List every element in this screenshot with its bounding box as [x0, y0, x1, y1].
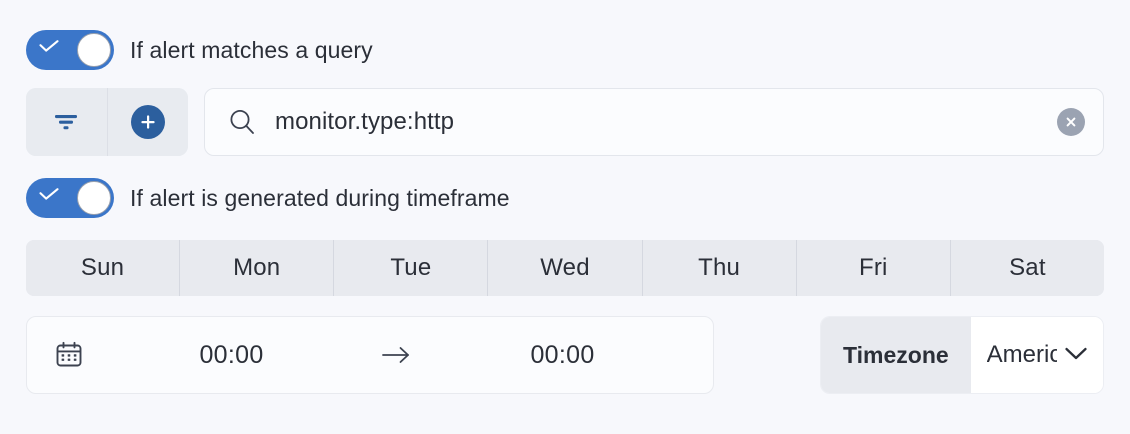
start-time-input[interactable]: 00:00 [111, 341, 352, 370]
filter-icon [53, 113, 79, 131]
calendar-icon [27, 340, 111, 370]
arrow-right-icon [352, 345, 442, 365]
time-range-field[interactable]: 00:00 00:00 [26, 316, 714, 394]
check-icon [39, 40, 59, 52]
query-controls-row: monitor.type:http [26, 70, 1104, 156]
search-icon [227, 107, 257, 137]
check-icon [39, 188, 59, 200]
query-search-field[interactable]: monitor.type:http [204, 88, 1104, 156]
day-of-week-selector: Sun Mon Tue Wed Thu Fri Sat [26, 240, 1104, 296]
alert-conditions-panel: If alert matches a query [0, 0, 1130, 434]
add-query-button[interactable] [107, 88, 189, 156]
day-button-sat[interactable]: Sat [950, 240, 1104, 296]
timezone-selector[interactable]: Timezone Americ [820, 316, 1104, 394]
chevron-down-icon [1063, 345, 1089, 366]
plus-circle-icon [131, 105, 165, 139]
end-time-input[interactable]: 00:00 [442, 341, 683, 370]
timeframe-condition-row: If alert is generated during timeframe [26, 156, 1104, 218]
timezone-label: Timezone [821, 317, 971, 393]
timeframe-condition-toggle[interactable] [26, 178, 114, 218]
day-button-fri[interactable]: Fri [796, 240, 950, 296]
timeframe-row: 00:00 00:00 Timezone Americ [26, 316, 1104, 394]
query-condition-toggle[interactable] [26, 30, 114, 70]
day-button-thu[interactable]: Thu [642, 240, 796, 296]
day-button-wed[interactable]: Wed [487, 240, 641, 296]
close-circle-icon[interactable] [1057, 108, 1085, 136]
timezone-dropdown[interactable]: Americ [971, 317, 1103, 393]
query-condition-row: If alert matches a query [26, 0, 1104, 70]
query-condition-label: If alert matches a query [130, 39, 373, 62]
spacer [714, 316, 820, 394]
day-button-mon[interactable]: Mon [179, 240, 333, 296]
toggle-knob [77, 181, 111, 215]
timeframe-condition-label: If alert is generated during timeframe [130, 187, 510, 210]
search-input[interactable]: monitor.type:http [275, 108, 1039, 136]
day-button-tue[interactable]: Tue [333, 240, 487, 296]
query-button-group [26, 88, 188, 156]
day-button-sun[interactable]: Sun [26, 240, 179, 296]
filter-button[interactable] [26, 88, 107, 156]
timezone-value: Americ [987, 341, 1057, 369]
toggle-knob [77, 33, 111, 67]
